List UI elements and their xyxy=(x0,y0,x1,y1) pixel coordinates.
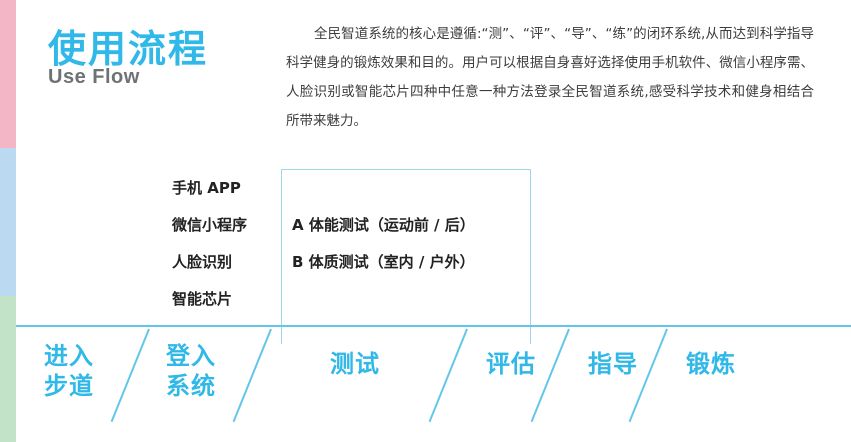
page-title-en: Use Flow xyxy=(48,66,140,89)
flow-bar: 进入步道登入系统测试评估指导锻炼 xyxy=(0,325,851,442)
flow-step-label: 步道 xyxy=(44,371,94,401)
flow-baseline xyxy=(16,325,851,327)
intro-paragraph: 全民智道系统的核心是遵循:“测”、“评”、“导”、“练”的闭环系统,从而达到科学… xyxy=(286,20,814,136)
login-method-item: 智能芯片 xyxy=(172,281,272,318)
flow-step-label: 登入 xyxy=(166,341,216,371)
page-title-cn: 使用流程 xyxy=(48,18,208,73)
test-item: B 体质测试（室内 / 户外） xyxy=(292,244,522,281)
flow-step-label: 指导 xyxy=(588,349,638,379)
flow-divider-slash xyxy=(531,329,570,422)
flow-step-4: 评估 xyxy=(486,349,536,379)
login-method-item: 手机 APP xyxy=(172,170,272,207)
flow-divider-slash xyxy=(233,329,272,422)
login-method-list: 手机 APP 微信小程序 人脸识别 智能芯片 xyxy=(172,170,272,318)
test-item: A 体能测试（运动前 / 后） xyxy=(292,207,522,244)
flow-step-2: 登入系统 xyxy=(166,341,216,401)
connector-vertical-right xyxy=(530,169,531,344)
flow-step-3: 测试 xyxy=(330,349,380,379)
flow-step-1: 进入步道 xyxy=(44,341,94,401)
flow-step-6: 锻炼 xyxy=(686,349,736,379)
flow-step-label: 评估 xyxy=(486,349,536,379)
login-method-item: 微信小程序 xyxy=(172,207,272,244)
flow-divider-slash xyxy=(111,329,150,422)
flow-step-5: 指导 xyxy=(588,349,638,379)
login-method-item: 人脸识别 xyxy=(172,244,272,281)
flow-step-label: 进入 xyxy=(44,341,94,371)
diagram-middle: 手机 APP 微信小程序 人脸识别 智能芯片 A 体能测试（运动前 / 后） B… xyxy=(0,150,851,350)
test-item-list: A 体能测试（运动前 / 后） B 体质测试（室内 / 户外） xyxy=(292,207,522,281)
connector-horizontal xyxy=(281,169,531,170)
flow-step-label: 测试 xyxy=(330,349,380,379)
connector-vertical-left xyxy=(281,169,282,344)
flow-step-label: 锻炼 xyxy=(686,349,736,379)
color-bar-pink xyxy=(0,0,16,148)
flow-step-label: 系统 xyxy=(166,371,216,401)
flow-divider-slash xyxy=(429,329,468,422)
